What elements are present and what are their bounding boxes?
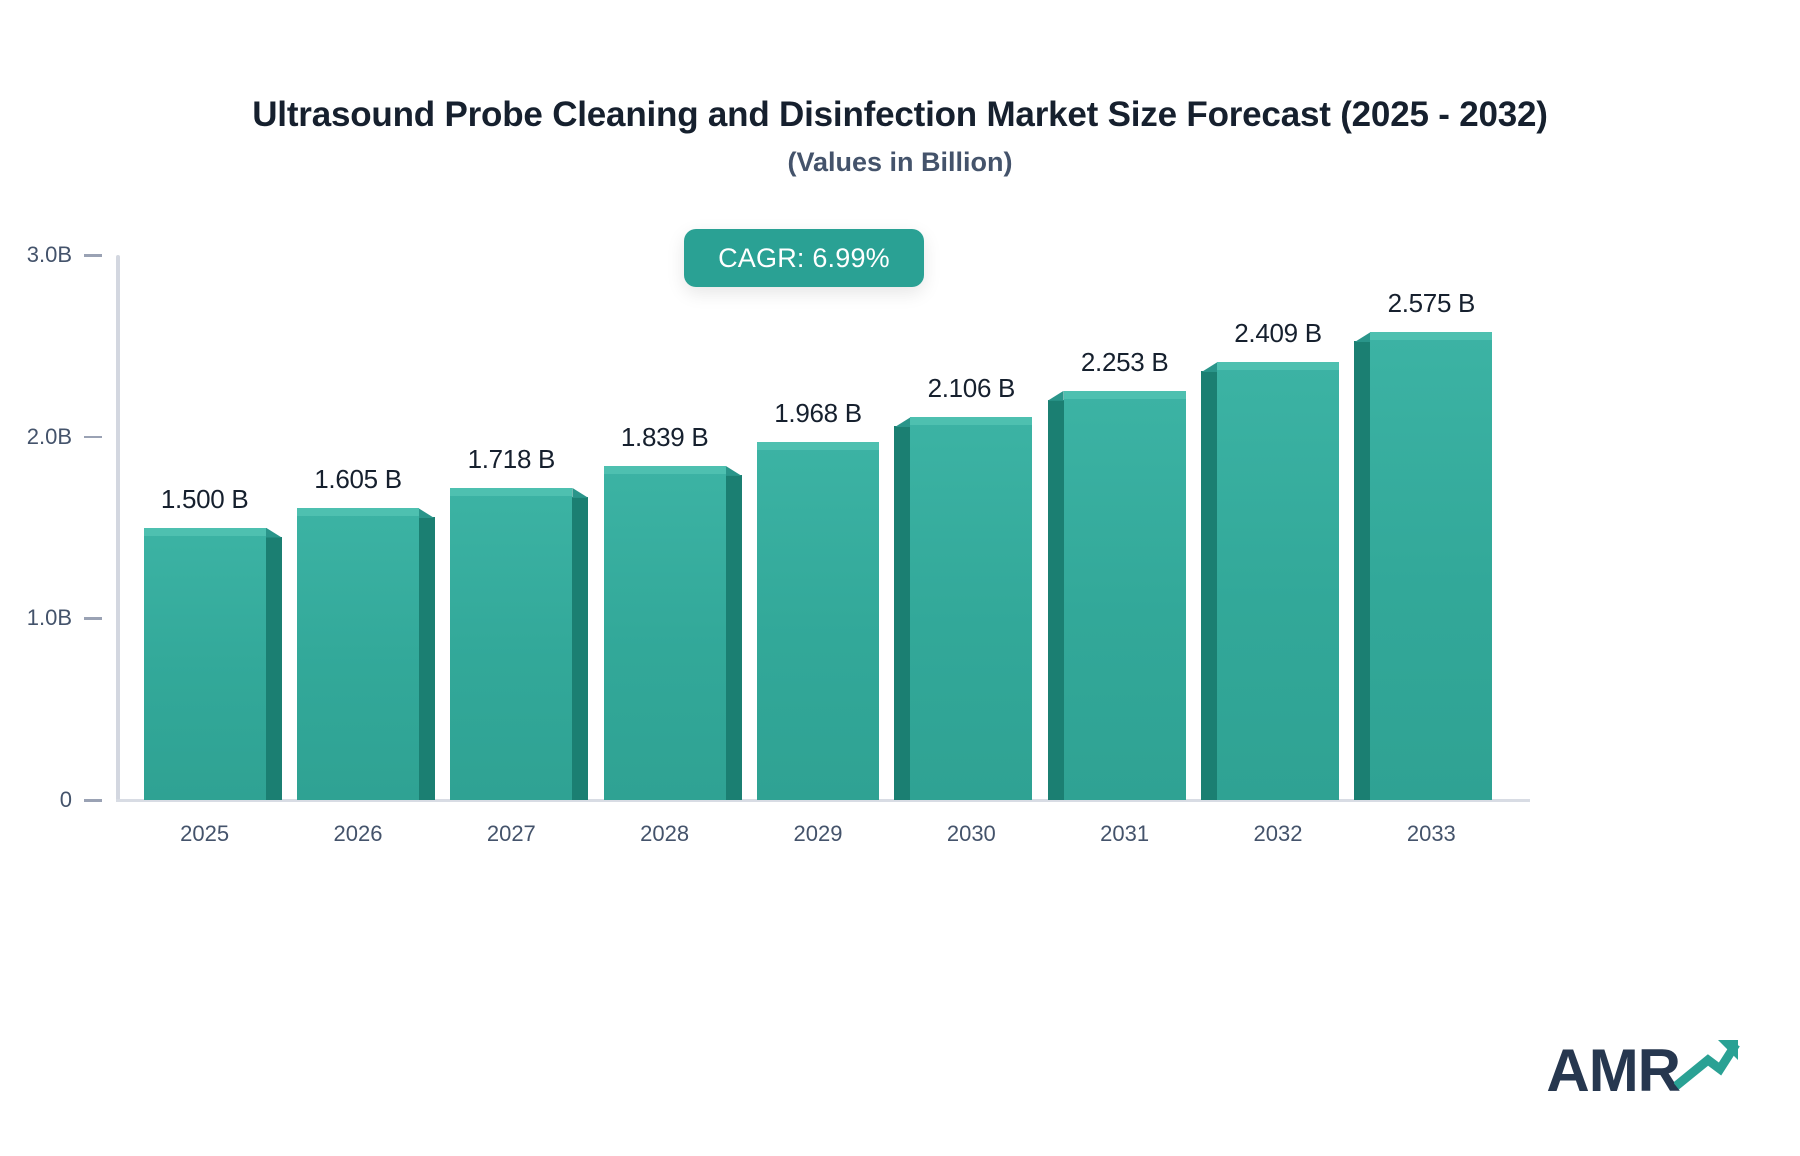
chart-page: Ultrasound Probe Cleaning and Disinfecti… [0,0,1800,1156]
bar-top-face [144,528,266,536]
bar-side-face [1048,400,1064,800]
y-axis-tick: 3.0B [0,243,116,267]
logo-text: AMR [1546,1041,1680,1101]
bar-top-bevel [726,466,742,476]
y-axis-tick: 1.0B [0,606,116,630]
y-axis-tick-mark [84,799,102,802]
y-axis-tick-label: 2.0B [27,425,72,449]
bar-face [910,417,1032,800]
bar-face [604,466,726,800]
y-axis-tick-mark [84,436,102,439]
bar-side-face [419,517,435,800]
bar-side-face [266,537,282,801]
bar-column[interactable] [144,255,266,800]
bar-value-label: 2.409 B [1148,318,1408,349]
bar-column[interactable] [450,255,572,800]
y-axis-line [116,255,120,801]
bar-value-label: 2.575 B [1301,288,1561,319]
y-axis-tick-mark [84,617,102,620]
plot-area: 01.0B2.0B3.0B 20252026202720282029203020… [0,0,1800,1156]
bar-face [1217,362,1339,800]
growth-arrow-icon [1674,1038,1740,1095]
amr-logo: AMR [1546,1038,1740,1101]
x-axis-label: 2033 [1331,821,1531,847]
bar-value-label: 2.253 B [995,347,1255,378]
bar-side-face [572,497,588,800]
bar-side-face [726,475,742,800]
bar-column[interactable] [297,255,419,800]
bar-column[interactable] [910,255,1032,800]
bar-column[interactable] [604,255,726,800]
y-axis-tick: 0 [0,788,116,812]
bar-side-face [894,426,910,800]
y-axis-tick-label: 3.0B [27,243,72,267]
y-axis-tick-mark [84,254,102,257]
bar-face [1064,391,1186,800]
bar-top-bevel [572,488,588,498]
y-axis-tick-label: 0 [60,788,72,812]
y-axis-tick: 2.0B [0,425,116,449]
bar-face [757,442,879,800]
bar-face [144,528,266,801]
bar-face [297,508,419,800]
y-axis-tick-label: 1.0B [27,606,72,630]
bar-side-face [1201,371,1217,800]
bar-face [450,488,572,800]
bar-column[interactable] [757,255,879,800]
bar-face [1370,332,1492,800]
bar-value-label: 2.106 B [841,373,1101,404]
bar-side-face [1354,341,1370,800]
